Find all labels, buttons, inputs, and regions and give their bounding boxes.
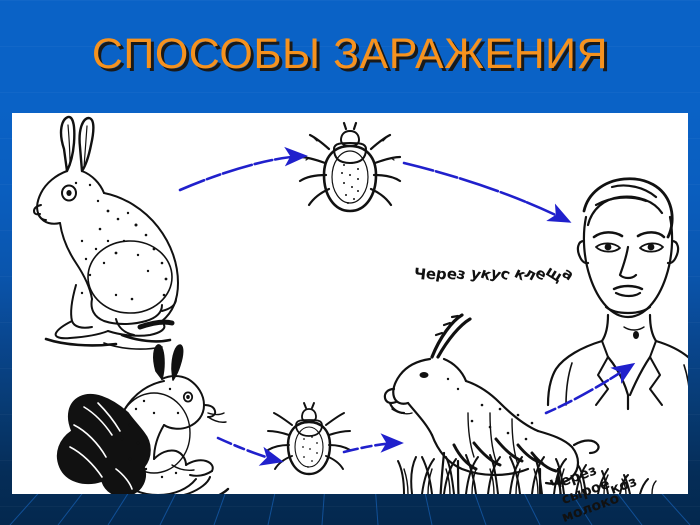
slide: СПОСОБЫ ЗАРАЖЕНИЯ <box>0 0 700 525</box>
hare-figure <box>34 117 178 349</box>
diagram-panel: Через укус клеща Через сырое молоко коз <box>12 113 688 494</box>
arrow-tick-to-man <box>404 163 568 221</box>
arrow-goat-to-man <box>546 365 632 413</box>
arrow-tick-to-goat <box>344 443 400 452</box>
arrow-hare-to-tick <box>180 156 304 190</box>
infection-routes-diagram <box>12 113 688 494</box>
tick-top-figure <box>300 123 400 211</box>
label-through-tick-bite: Через укус клеща <box>414 265 573 283</box>
tick-bottom-figure <box>268 403 350 474</box>
squirrel-figure <box>58 345 228 494</box>
page-title: СПОСОБЫ ЗАРАЖЕНИЯ <box>0 30 700 79</box>
